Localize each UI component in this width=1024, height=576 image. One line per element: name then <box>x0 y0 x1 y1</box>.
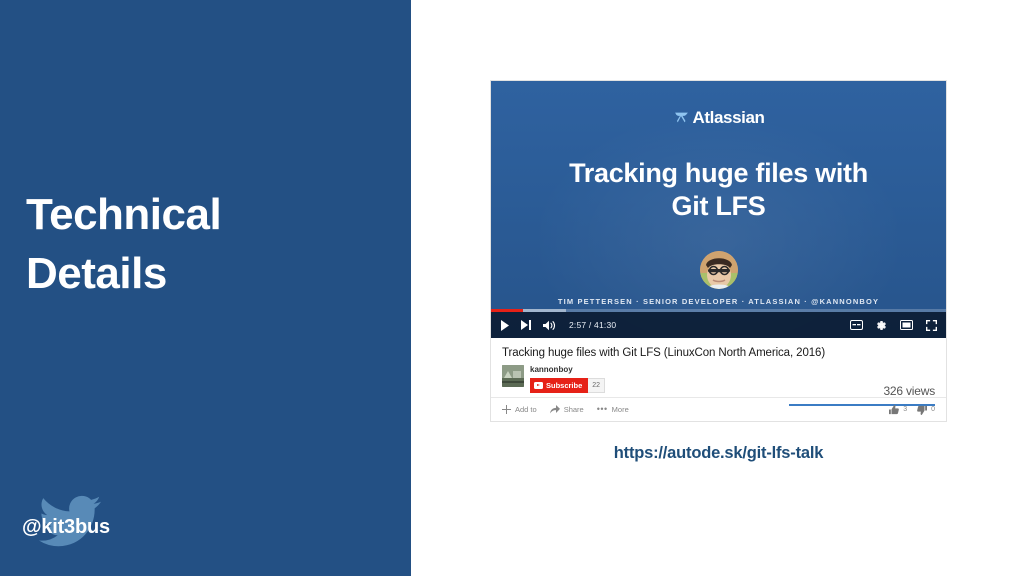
slide-left-panel: Technical Details @kit3bus <box>0 0 411 576</box>
youtube-play-icon <box>534 382 543 389</box>
speaker-credit: TIM PETTERSEN · SENIOR DEVELOPER · ATLAS… <box>491 297 946 306</box>
thumbnail-headline: Tracking huge files with Git LFS <box>515 157 922 224</box>
timestamp: 2:57 / 41:30 <box>569 320 616 330</box>
subscribe-group: Subscribe 22 <box>530 378 605 393</box>
player-controls-bar[interactable]: 2:57 / 41:30 <box>491 312 946 338</box>
thumbs-down-icon <box>917 405 927 415</box>
like-count: 3 <box>903 406 907 413</box>
subscribe-label: Subscribe <box>546 381 582 390</box>
share-icon <box>550 405 560 414</box>
video-player[interactable]: Atlassian Tracking huge files with Git L… <box>491 81 946 338</box>
dislike-count: 0 <box>931 406 935 413</box>
atlassian-mark-icon <box>673 110 690 127</box>
share-button[interactable]: Share <box>550 405 584 414</box>
closed-captions-icon[interactable] <box>850 320 863 330</box>
fullscreen-icon[interactable] <box>926 320 937 331</box>
play-icon[interactable] <box>500 320 510 331</box>
video-title[interactable]: Tracking huge files with Git LFS (LinuxC… <box>502 347 935 359</box>
speaker-avatar <box>700 251 738 289</box>
channel-avatar-photo-icon <box>502 365 524 387</box>
avatar-photo-icon <box>700 251 738 289</box>
dislike-button[interactable]: 0 <box>917 405 935 415</box>
video-action-row: Add to Share ••• More 3 <box>491 397 946 421</box>
channel-avatar[interactable] <box>502 365 524 387</box>
player-controls-left[interactable]: 2:57 / 41:30 <box>500 312 616 338</box>
next-video-icon[interactable] <box>521 320 532 330</box>
add-to-button[interactable]: Add to <box>502 405 537 414</box>
rating-group: 3 0 <box>889 405 935 415</box>
talk-url-caption: https://autode.sk/git-lfs-talk <box>490 444 947 463</box>
volume-icon[interactable] <box>543 320 556 331</box>
channel-row: kannonboy Subscribe 22 <box>502 365 935 393</box>
more-button[interactable]: ••• More <box>597 405 629 414</box>
subscribe-button[interactable]: Subscribe <box>530 378 588 393</box>
atlassian-logo: Atlassian <box>491 108 946 128</box>
add-to-label: Add to <box>515 405 537 414</box>
thumbs-up-icon <box>889 405 899 415</box>
plus-icon <box>502 405 511 414</box>
youtube-video-card[interactable]: Atlassian Tracking huge files with Git L… <box>490 80 947 422</box>
ellipsis-icon: ••• <box>597 405 608 414</box>
view-count: 326 views <box>883 384 935 398</box>
subscriber-count: 22 <box>588 378 605 393</box>
twitter-handle-text: @kit3bus <box>22 516 110 539</box>
page-title: Technical Details <box>26 186 386 303</box>
player-controls-right[interactable] <box>850 312 937 338</box>
gear-icon[interactable] <box>876 320 887 331</box>
atlassian-wordmark: Atlassian <box>693 108 765 128</box>
twitter-handle: @kit3bus <box>22 488 202 554</box>
action-buttons-left: Add to Share ••• More <box>502 405 629 414</box>
more-label: More <box>612 405 629 414</box>
miniplayer-icon[interactable] <box>900 320 913 330</box>
channel-name[interactable]: kannonboy <box>530 365 605 374</box>
share-label: Share <box>564 405 584 414</box>
like-button[interactable]: 3 <box>889 405 907 415</box>
